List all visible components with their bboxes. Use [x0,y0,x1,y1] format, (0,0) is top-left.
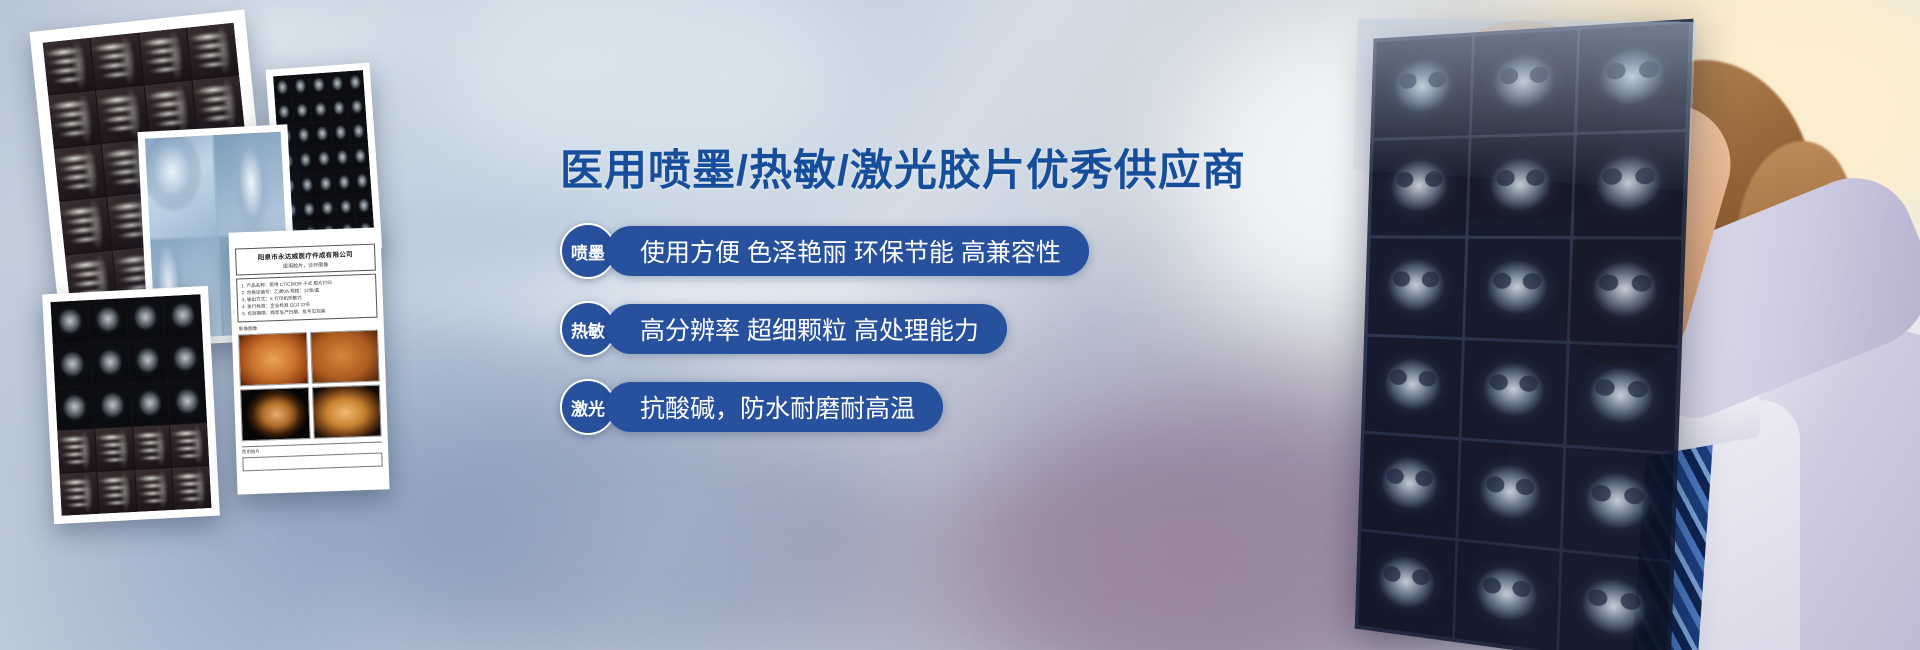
held-film-highlight [1353,18,1696,191]
feature-row-inkjet: 喷墨 使用方便 色泽艳丽 环保节能 高兼容性 [560,223,1280,279]
report-image-fundus-right [309,329,379,383]
mri-slice [1459,440,1563,548]
mri-slice [1562,448,1673,560]
mri-slice [1455,541,1559,650]
mri-slice [1361,434,1459,538]
banner-content: 医用喷墨/热敏/激光胶片优秀供应商 喷墨 使用方便 色泽艳丽 环保节能 高兼容性… [560,148,1280,457]
mri-slice [1465,239,1570,341]
mri-slice [1365,336,1463,437]
report-image-ultrasound-left [240,387,310,441]
report-image-grid [238,329,382,441]
feature-text-thermal[interactable]: 高分辨率 超细颗粒 高处理能力 [606,304,1007,354]
report-sheet: 阳泉市永达威医疗件成有限公司 医用胶片，诊疗图像 1. 产品名称：医用 CT/C… [228,227,389,494]
page-title: 医用喷墨/热敏/激光胶片优秀供应商 [560,148,1280,195]
report-footer-box [242,452,382,471]
medical-film-collage: 阳泉市永达威医疗件成有限公司 医用胶片，诊疗图像 1. 产品名称：医用 CT/C… [0,0,470,530]
mri-slice [1368,238,1466,336]
film-sheet-brain-spine-mri [42,286,220,524]
feature-row-thermal: 热敏 高分辨率 超细颗粒 高处理能力 [560,301,1280,357]
report-header-box: 阳泉市永达威医疗件成有限公司 医用胶片，诊疗图像 [235,244,376,276]
mri-slice [1358,531,1455,638]
mri-slice [1462,340,1566,445]
report-image-fundus-left [238,332,308,386]
feature-row-laser: 激光 抗酸碱，防水耐磨耐高温 [560,379,1280,435]
report-info-box: 1. 产品名称：医用 CT/CR/DR 干式 胶片打印 2. 合格证编号：乙类0… [236,274,377,322]
feature-list: 喷墨 使用方便 色泽艳丽 环保节能 高兼容性 热敏 高分辨率 超细颗粒 高处理能… [560,223,1280,435]
feature-text-laser[interactable]: 抗酸碱，防水耐磨耐高温 [606,382,943,432]
report-image-ultrasound-right [311,384,381,438]
feature-text-inkjet[interactable]: 使用方便 色泽艳丽 环保节能 高兼容性 [606,226,1089,276]
mri-slice [1566,344,1678,452]
mri-slice [1559,551,1670,650]
mri-slice [1569,239,1681,344]
hero-banner: 阳泉市永达威医疗件成有限公司 医用胶片，诊疗图像 1. 产品名称：医用 CT/C… [0,0,1920,650]
